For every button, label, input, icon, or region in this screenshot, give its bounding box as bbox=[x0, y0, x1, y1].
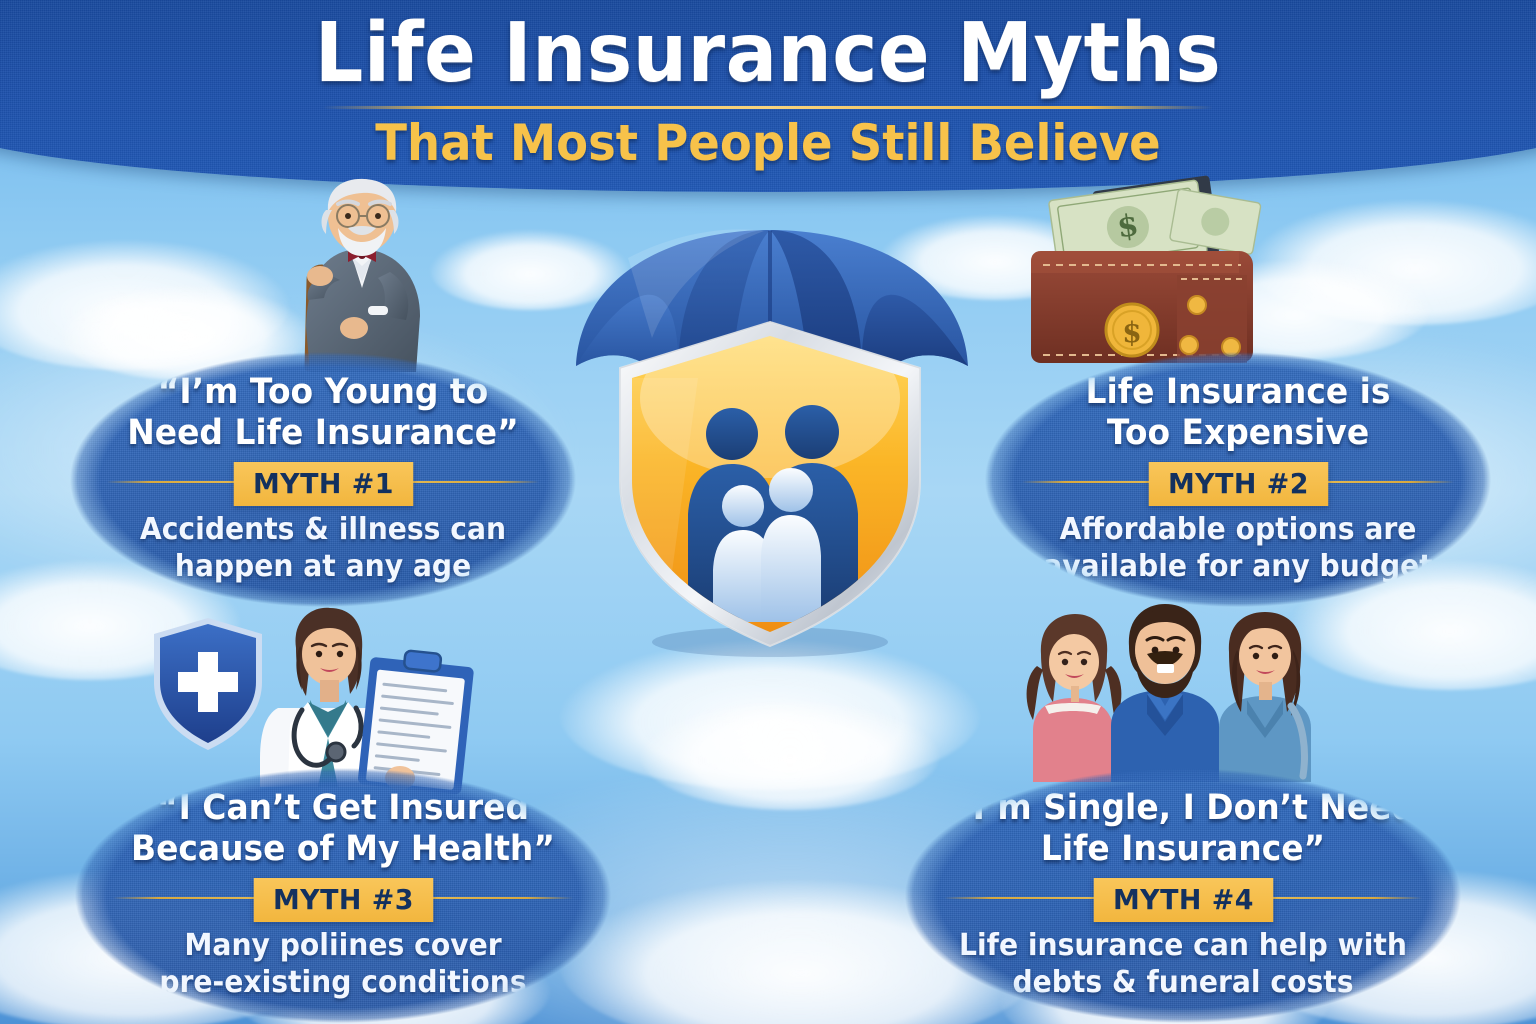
myth-card-1-badge-row: MYTH #1 bbox=[88, 462, 558, 502]
myth-card-3-desc-line-2: pre-existing conditions bbox=[108, 965, 578, 1002]
myth-card-3-title-line-2: Because of My Health” bbox=[108, 829, 578, 870]
myth-card-1-title: “I’m Too Young to Need Life Insurance” bbox=[102, 372, 544, 453]
myth-card-2-desc-line-2: available for any budget bbox=[1017, 549, 1459, 586]
myth-card-3: “I Can’t Get Insured Because of My Healt… bbox=[75, 768, 611, 1023]
page-title: Life Insurance Myths bbox=[54, 14, 1482, 94]
wallet-stud bbox=[1188, 296, 1206, 314]
svg-text:$: $ bbox=[1122, 316, 1141, 349]
infographic-poster: Life Insurance Myths That Most People St… bbox=[0, 0, 1536, 1024]
title-divider-rule bbox=[323, 106, 1213, 109]
myth-card-1-desc-line-2: happen at any age bbox=[102, 549, 544, 586]
myth-card-4-title-line-1: “I’m Single, I Don’t Need bbox=[939, 788, 1428, 829]
myth-card-1-title-line-2: Need Life Insurance” bbox=[102, 413, 544, 454]
wallet-with-money-illustration: $ $ bbox=[1025, 165, 1260, 365]
family-of-three-illustration bbox=[1015, 610, 1330, 782]
elderly-man-with-cane-illustration bbox=[250, 176, 450, 372]
myth-card-2-title: Life Insurance is Too Expensive bbox=[1017, 372, 1459, 453]
myth-card-3-title-line-1: “I Can’t Get Insured bbox=[108, 788, 578, 829]
myth-card-1-badge: MYTH #1 bbox=[233, 462, 412, 506]
myth-card-3-desc-line-1: Many poliines cover bbox=[108, 928, 578, 965]
medical-shield-icon bbox=[154, 618, 262, 750]
myth-card-2: Life Insurance is Too Expensive MYTH #2 … bbox=[985, 352, 1491, 607]
myth-card-4-badge: MYTH #4 bbox=[1093, 878, 1272, 922]
myth-card-1-desc-line-1: Accidents & illness can bbox=[102, 512, 544, 549]
myth-card-4-title: “I’m Single, I Don’t Need Life Insurance… bbox=[939, 788, 1428, 869]
myth-card-2-desc-line-1: Affordable options are bbox=[1017, 512, 1459, 549]
mother-figure bbox=[1219, 612, 1311, 782]
myth-card-3-title: “I Can’t Get Insured Because of My Healt… bbox=[108, 788, 578, 869]
father-figure bbox=[1111, 604, 1219, 782]
page-subtitle: That Most People Still Believe bbox=[54, 118, 1482, 168]
umbrella-shield-family-emblem bbox=[568, 218, 972, 658]
myth-card-1-description: Accidents & illness can happen at any ag… bbox=[102, 512, 544, 585]
myth-card-4-desc-line-2: debts & funeral costs bbox=[939, 965, 1428, 1002]
myth-card-3-badge: MYTH #3 bbox=[253, 878, 432, 922]
header-title-group: Life Insurance Myths That Most People St… bbox=[0, 14, 1536, 168]
myth-card-4-description: Life insurance can help with debts & fun… bbox=[939, 928, 1428, 1001]
myth-card-2-description: Affordable options are available for any… bbox=[1017, 512, 1459, 585]
myth-card-2-badge-row: MYTH #2 bbox=[1003, 462, 1473, 502]
myth-card-3-badge-row: MYTH #3 bbox=[93, 878, 593, 918]
myth-card-4: “I’m Single, I Don’t Need Life Insurance… bbox=[905, 768, 1461, 1023]
myth-card-2-badge: MYTH #2 bbox=[1148, 462, 1327, 506]
myth-card-4-title-line-2: Life Insurance” bbox=[939, 829, 1428, 870]
myth-card-2-title-line-2: Too Expensive bbox=[1017, 413, 1459, 454]
myth-card-2-title-line-1: Life Insurance is bbox=[1017, 372, 1459, 413]
myth-card-1-title-line-1: “I’m Too Young to bbox=[102, 372, 544, 413]
cloud bbox=[640, 700, 940, 810]
doctor-with-clipboard-illustration bbox=[150, 612, 470, 787]
myth-card-3-description: Many poliines cover pre-existing conditi… bbox=[108, 928, 578, 1001]
myth-card-4-badge-row: MYTH #4 bbox=[923, 878, 1443, 918]
myth-card-4-desc-line-1: Life insurance can help with bbox=[939, 928, 1428, 965]
myth-card-1: “I’m Too Young to Need Life Insurance” M… bbox=[70, 352, 576, 607]
